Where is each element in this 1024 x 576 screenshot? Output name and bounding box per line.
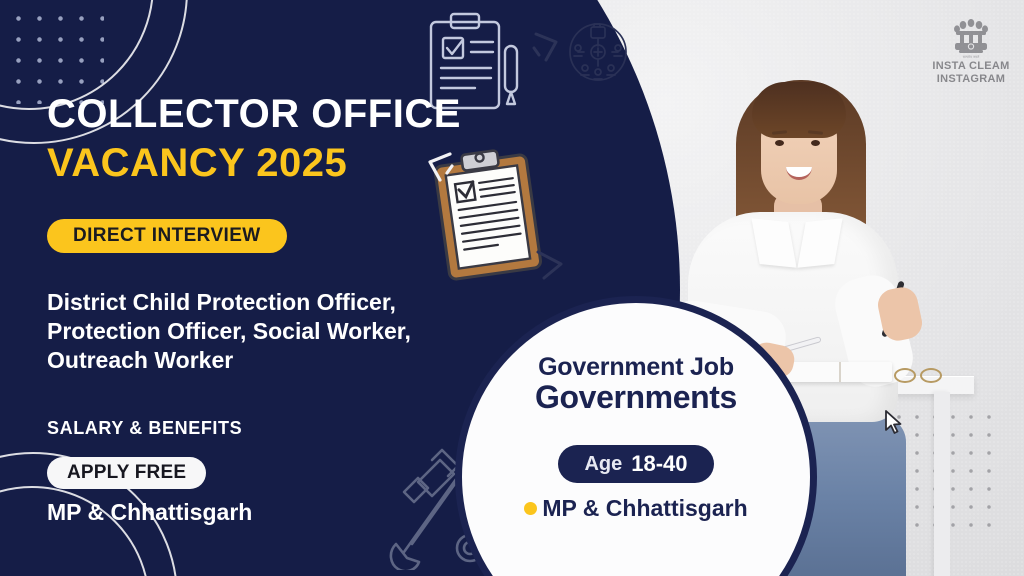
poster-canvas: COLLECTOR OFFICE VACANCY 2025 DIRECT INT… (0, 0, 1024, 576)
direct-interview-badge[interactable]: DIRECT INTERVIEW (47, 219, 287, 253)
states-left: MP & Chhattisgarh (47, 499, 252, 526)
hair-front (752, 82, 846, 138)
desk-leg (934, 392, 950, 576)
headline-line-2: VACANCY 2025 (47, 143, 347, 183)
national-emblem-icon: सत्यमेव जयते (951, 16, 991, 60)
badge-content: Government Job Governments Age 18-40 MP … (462, 353, 810, 522)
organization-chart-icon (560, 14, 636, 95)
corner-bracket-bottom-icon (528, 244, 572, 293)
roles-list: District Child Protection Officer, Prote… (47, 288, 447, 375)
badge-line-1: Government Job (538, 353, 734, 382)
badge-states: MP & Chhattisgarh (542, 495, 747, 522)
eye-right (811, 140, 820, 146)
watermark-line-2: INSTAGRAM (926, 73, 1016, 86)
headline-line-1: COLLECTOR OFFICE (47, 94, 461, 134)
salary-heading: SALARY & BENEFITS (47, 418, 242, 439)
watermark-line-1: INSTA CLEAM (926, 60, 1016, 73)
age-label: Age (584, 453, 622, 476)
mouse-cursor-icon (884, 410, 904, 441)
apply-free-badge[interactable]: APPLY FREE (47, 457, 206, 489)
svg-text:सत्यमेव जयते: सत्यमेव जयते (963, 54, 980, 59)
age-value: 18-40 (631, 451, 687, 477)
eyeglasses-on-desk (894, 366, 956, 386)
badge-states-row: MP & Chhattisgarh (524, 495, 747, 522)
badge-line-2: Governments (535, 379, 737, 416)
bullet-dot-icon (524, 502, 537, 515)
age-pill: Age 18-40 (558, 445, 713, 483)
eye-left (775, 140, 784, 146)
corner-bracket-top-right-icon (524, 26, 566, 73)
left-text-column: COLLECTOR OFFICE VACANCY 2025 DIRECT INT… (47, 0, 467, 576)
watermark: सत्यमेव जयते INSTA CLEAM INSTAGRAM (926, 16, 1016, 85)
